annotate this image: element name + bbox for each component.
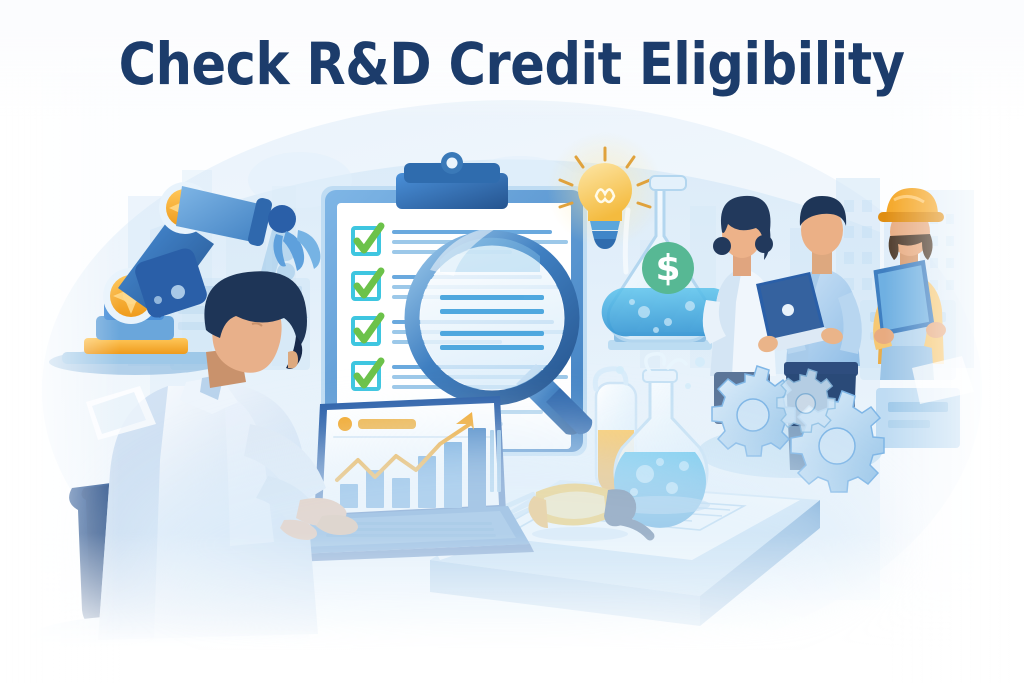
bottom-fade — [0, 533, 1024, 683]
svg-text:$: $ — [655, 248, 680, 289]
illustration-banner: $ — [0, 0, 1024, 683]
page-title: Check R&D Credit Eligibility — [0, 34, 1024, 95]
page-title-text: Check R&D Credit Eligibility — [119, 34, 905, 95]
